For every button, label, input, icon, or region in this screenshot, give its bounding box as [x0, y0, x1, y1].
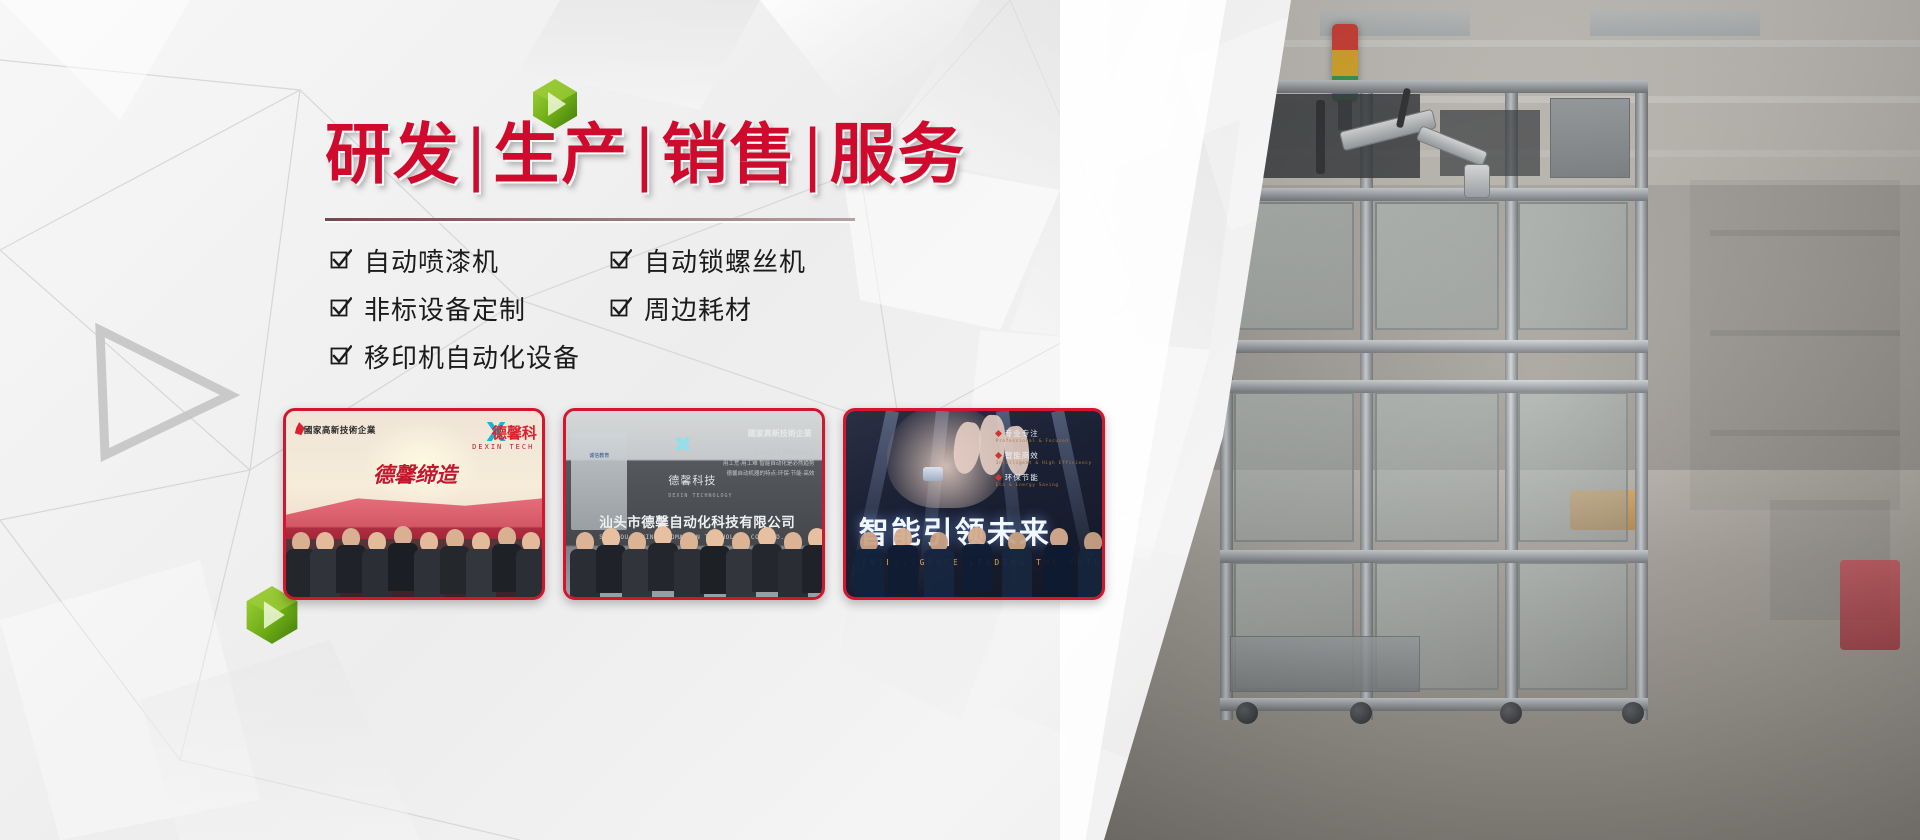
- card-slogan: 德馨缔造: [373, 459, 457, 489]
- list-item-label: 周边耗材: [644, 290, 752, 327]
- headline-part-service: 服务: [830, 116, 966, 193]
- list-item: 自动喷漆机: [330, 236, 610, 284]
- checkbox-checked-icon: [330, 249, 352, 271]
- list-item-label: 移印机自动化设备: [364, 338, 580, 375]
- headline-divider: [325, 218, 855, 221]
- group-photo-people: [286, 508, 542, 597]
- photo-card-list: 國家高新技術企業 X 德馨科 DEXIN TECH 德馨缔造: [283, 408, 1105, 600]
- group-photo-people: [846, 541, 1102, 597]
- description-line: 企业转型走不断创新之路: [681, 448, 814, 458]
- photo-card-award-ceremony[interactable]: 國家高新技術企業 X 德馨科 DEXIN TECH 德馨缔造: [283, 408, 545, 600]
- booth-text: 诚信教育: [574, 452, 625, 460]
- headline: 研发|生产|销售|服务: [325, 120, 1025, 189]
- list-item-label: 自动锁螺丝机: [644, 242, 806, 279]
- card-description: 企业转型走不断创新之路 用工荒·用工难 智能自动化是必然趋势 德馨自动机器的特点…: [681, 448, 814, 479]
- headline-separator: |: [461, 116, 493, 193]
- list-item: 周边耗材: [610, 284, 890, 332]
- group-photo-people: [566, 526, 822, 597]
- card-tag-en: Intelligent & High Efficiency: [996, 461, 1092, 466]
- description-line: 德馨自动机器的特点:环保·节能·高效: [681, 469, 814, 479]
- card-tag-cn: 专业专注: [996, 428, 1092, 439]
- brand-name-cn: 德馨科: [492, 422, 537, 443]
- list-item: 非标设备定制: [330, 284, 610, 332]
- brand-name-en: DEXIN TECH: [472, 443, 534, 451]
- checkbox-checked-icon: [330, 345, 352, 367]
- checkbox-checked-icon: [610, 249, 632, 271]
- headline-part-rd: 研发: [325, 116, 461, 193]
- checkbox-checked-icon: [330, 297, 352, 319]
- description-line: 用工荒·用工难 智能自动化是必然趋势: [681, 459, 814, 469]
- headline-separator: |: [629, 116, 661, 193]
- list-item-label: 自动喷漆机: [364, 242, 499, 279]
- card-tag-cn: 环保节能: [996, 472, 1092, 483]
- checkbox-checked-icon: [610, 297, 632, 319]
- list-item: 移印机自动化设备: [330, 332, 890, 380]
- card-badge: 國家高新技術企業: [748, 428, 812, 439]
- card-tag-cn: 智能高效: [996, 450, 1092, 461]
- photo-card-intelligent-future[interactable]: 专业专注 Professional & Focused 智能高效 Intelli…: [843, 408, 1105, 600]
- headline-part-production: 生产: [493, 116, 629, 193]
- list-item: 自动锁螺丝机: [610, 236, 890, 284]
- headline-separator: |: [798, 116, 830, 193]
- card-badge: 國家高新技術企業: [304, 424, 376, 436]
- feature-checklist: 自动喷漆机 自动锁螺丝机 非标设备定制: [330, 236, 890, 380]
- card-tag-list: 专业专注 Professional & Focused 智能高效 Intelli…: [996, 428, 1092, 494]
- card-tag-en: Eco & Energy Saving: [996, 483, 1092, 488]
- headline-part-sales: 销售: [662, 116, 798, 193]
- brand-name-en: DEXIN TECHNOLOGY: [668, 493, 732, 499]
- list-item-label: 非标设备定制: [364, 290, 526, 327]
- photo-card-company-reception[interactable]: 诚信教育 ✖ 德馨科技 DEXIN TECHNOLOGY 國家高新技術企業 企业…: [563, 408, 825, 600]
- promo-banner: 研发|生产|销售|服务 自动喷漆机 自动锁螺丝机: [0, 0, 1920, 840]
- card-tag-en: Professional & Focused: [996, 439, 1092, 444]
